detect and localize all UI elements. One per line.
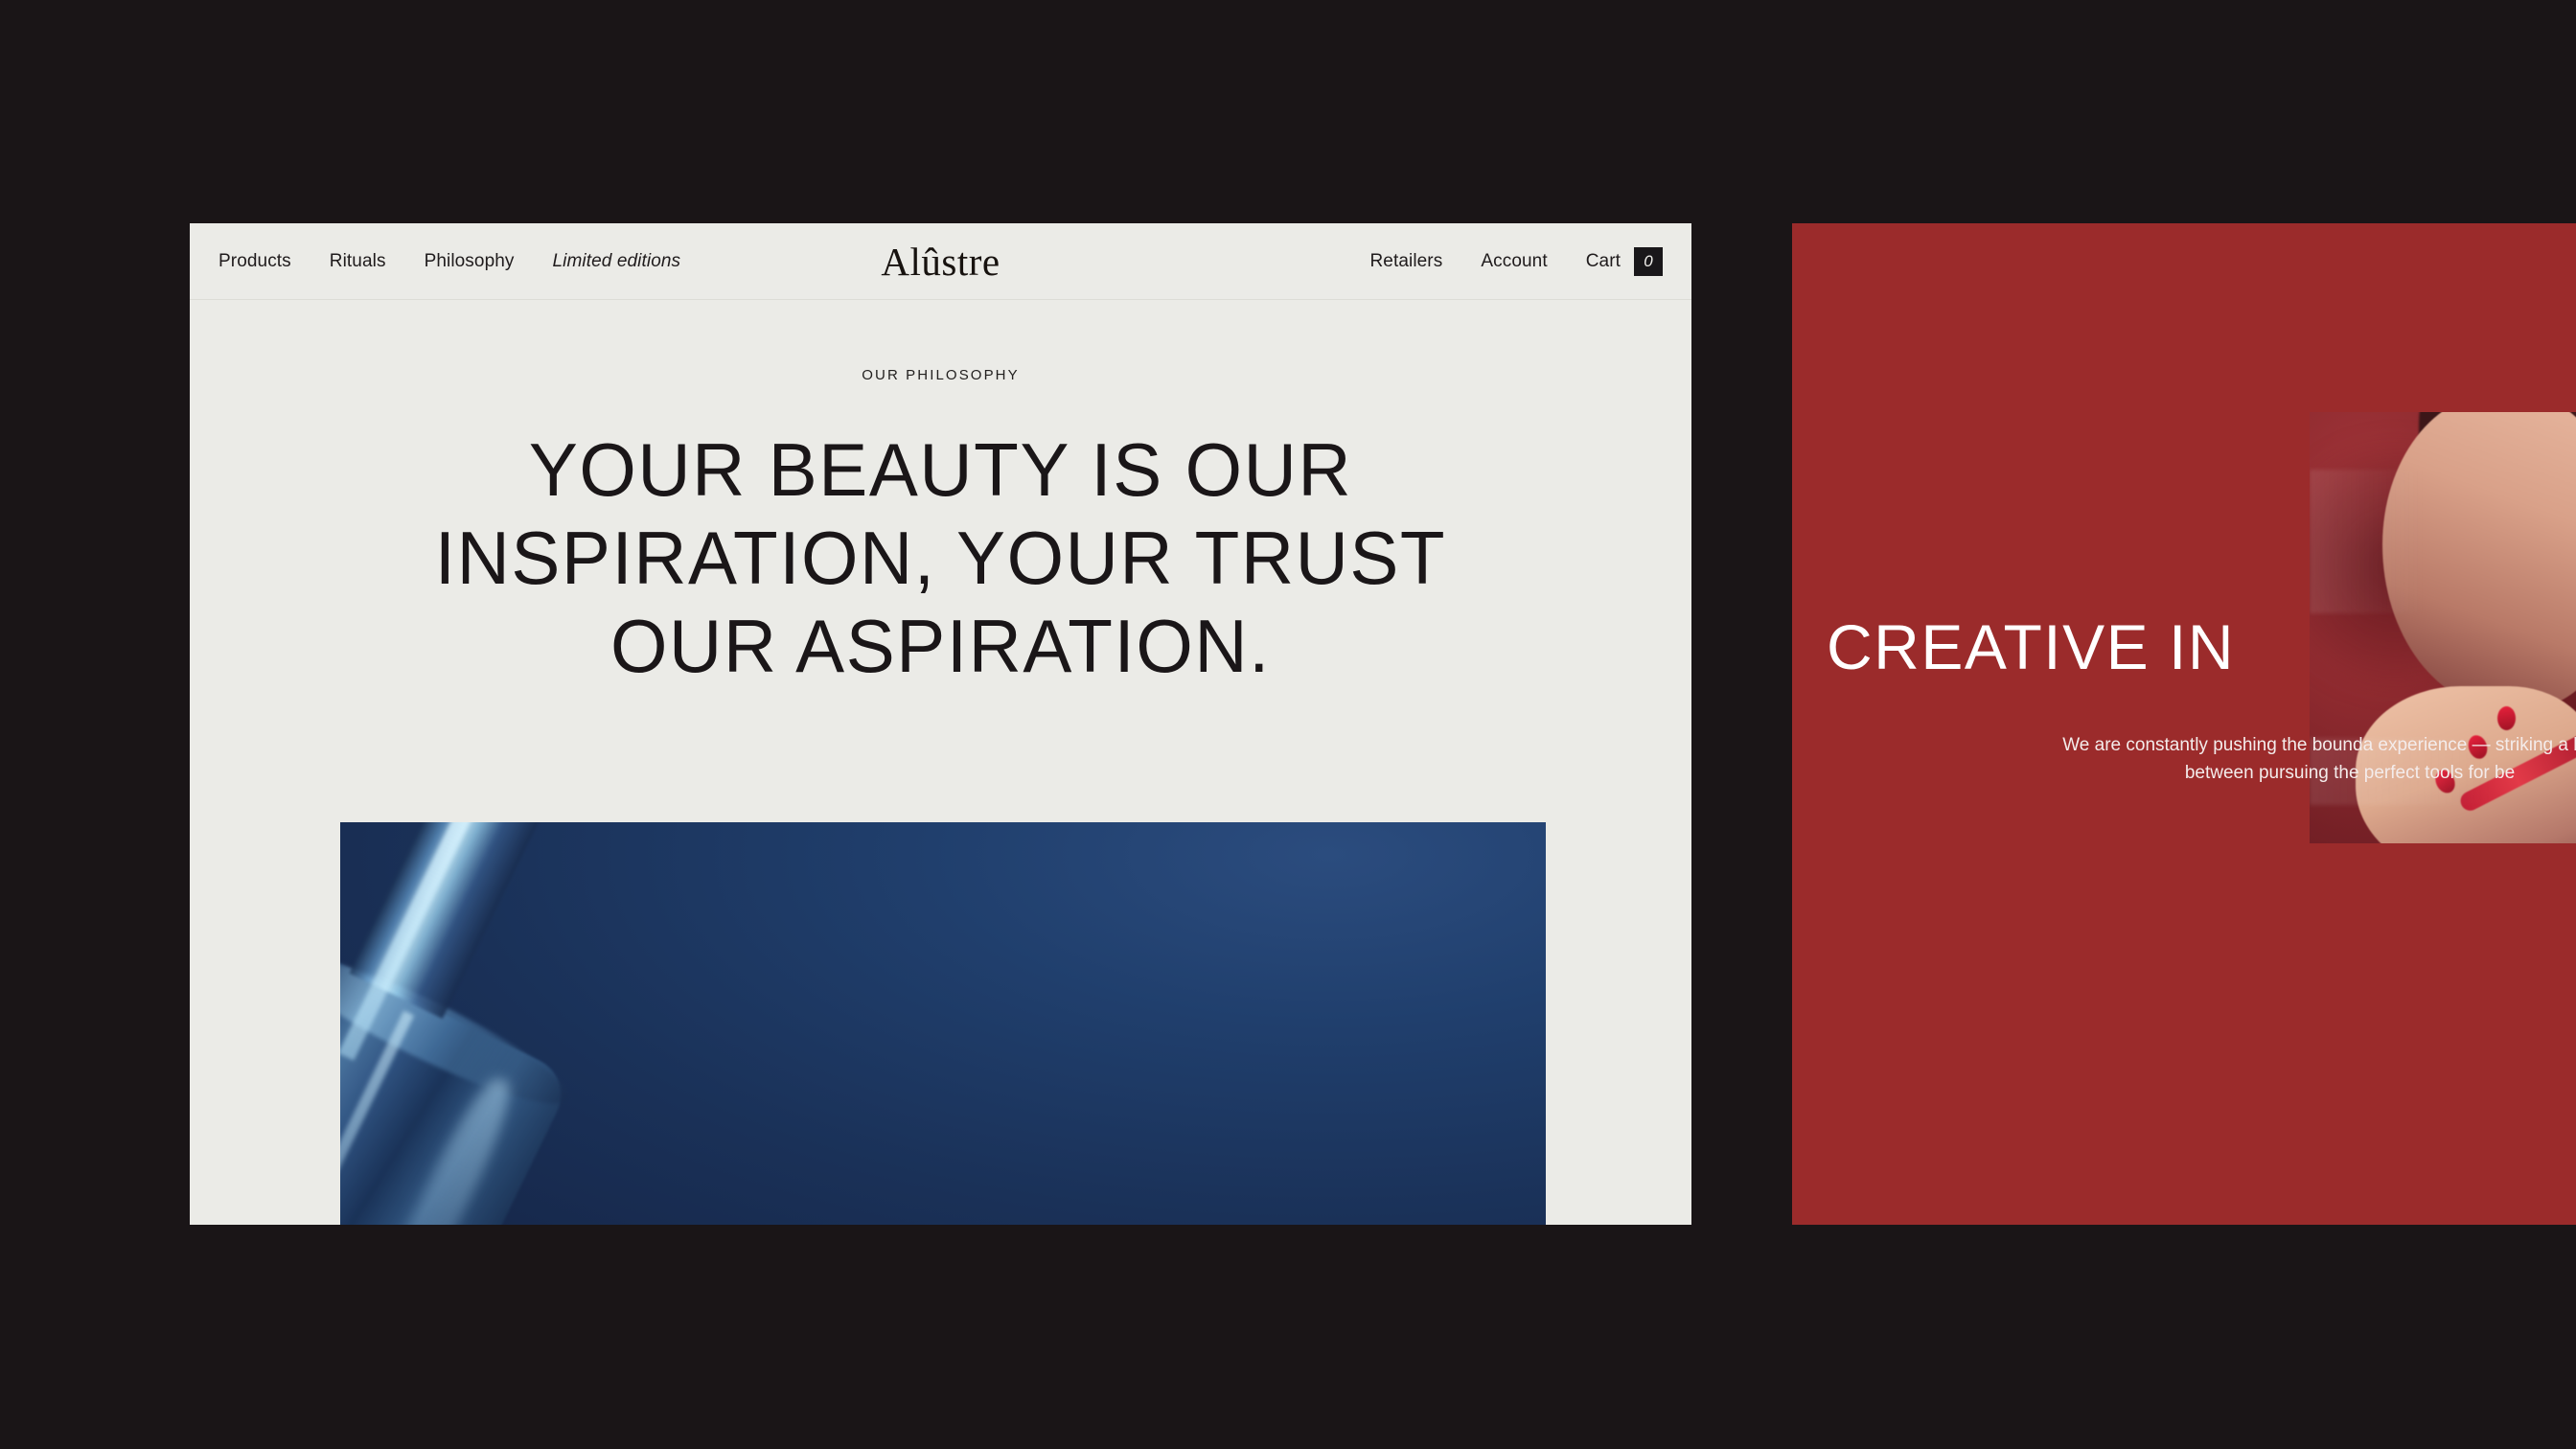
secondary-nav: Retailers Account Cart 0 (941, 247, 1664, 276)
nail-1 (2497, 706, 2516, 730)
cart-label: Cart (1586, 251, 1621, 272)
brand-logo[interactable]: Alûstre (881, 239, 1000, 285)
primary-nav: Products Rituals Philosophy Limited edit… (218, 251, 941, 272)
cart-button[interactable]: Cart 0 (1586, 247, 1663, 276)
nav-item-retailers[interactable]: Retailers (1369, 251, 1442, 272)
nav-item-rituals[interactable]: Rituals (330, 251, 386, 272)
photo-streak-1 (2310, 470, 2425, 613)
campaign-slide-panel: CREATIVE IN We are constantly pushing th… (1792, 223, 2576, 1225)
headline-line-3: OUR ASPIRATION. (610, 604, 1271, 688)
screenshot-stage: Products Rituals Philosophy Limited edit… (0, 0, 2576, 1449)
headline-line-2: INSPIRATION, YOUR TRUST (435, 516, 1446, 600)
campaign-body-text: We are constantly pushing the bounda exp… (2053, 731, 2576, 788)
nav-item-philosophy[interactable]: Philosophy (425, 251, 515, 272)
nav-item-account[interactable]: Account (1481, 251, 1547, 272)
section-eyebrow: OUR PHILOSOPHY (190, 367, 1691, 383)
site-navbar: Products Rituals Philosophy Limited edit… (190, 223, 1691, 300)
website-preview-panel: Products Rituals Philosophy Limited edit… (190, 223, 1691, 1225)
hero-headline: YOUR BEAUTY IS OUR INSPIRATION, YOUR TRU… (205, 425, 1677, 690)
cart-count-badge: 0 (1634, 247, 1663, 276)
nav-item-limited-editions[interactable]: Limited editions (553, 251, 681, 272)
perfume-bottle-graphic (340, 822, 768, 1225)
campaign-title: CREATIVE IN (1827, 610, 2235, 683)
product-hero-image (340, 822, 1546, 1225)
nav-item-products[interactable]: Products (218, 251, 291, 272)
headline-line-1: YOUR BEAUTY IS OUR (529, 427, 1352, 512)
hero-section: OUR PHILOSOPHY YOUR BEAUTY IS OUR INSPIR… (190, 300, 1691, 690)
